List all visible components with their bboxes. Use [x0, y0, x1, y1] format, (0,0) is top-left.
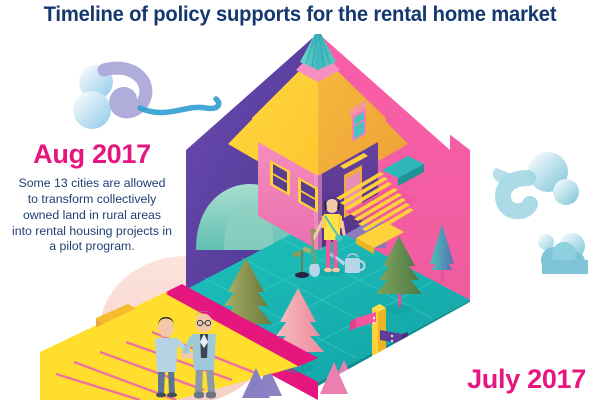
page-title: Timeline of policy supports for the rent…: [18, 2, 582, 27]
timeline-entry-aug: Aug 2017 Some 13 cities are allowed to t…: [6, 140, 178, 255]
date-label-july: July 2017: [467, 364, 586, 395]
infographic-canvas: Timeline of policy supports for the rent…: [0, 0, 600, 400]
caption-body-aug: Some 13 cities are allowed to transform …: [6, 176, 178, 255]
cloud-right-upper: [493, 152, 579, 211]
date-label-aug: Aug 2017: [6, 140, 178, 168]
